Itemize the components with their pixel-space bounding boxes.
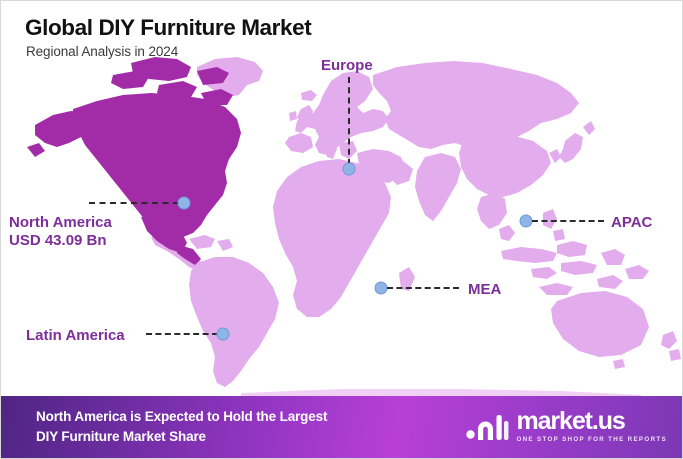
footer-callout: North America is Expected to Hold the La… — [36, 407, 327, 446]
region-value-north-america: USD 43.09 Bn — [9, 232, 112, 250]
region-label-apac: APAC — [611, 214, 652, 232]
logo-tagline: ONE STOP SHOP FOR THE REPORTS — [516, 437, 667, 443]
logo-text-block: market.us ONE STOP SHOP FOR THE REPORTS — [516, 409, 667, 443]
map-marker-latin-america[interactable] — [217, 328, 230, 341]
region-label-europe: Europe — [321, 57, 373, 75]
map-marker-north-america[interactable] — [178, 197, 191, 210]
map-marker-europe[interactable] — [343, 163, 356, 176]
map-base-regions — [151, 57, 681, 387]
footer-callout-line2: DIY Furniture Market Share — [36, 427, 327, 447]
market-us-logo[interactable]: market.us ONE STOP SHOP FOR THE REPORTS — [465, 409, 667, 443]
region-name-north-america: North America — [9, 214, 112, 232]
footer-callout-line1: North America is Expected to Hold the La… — [36, 407, 327, 427]
footer-banner: North America is Expected to Hold the La… — [1, 396, 683, 458]
leader-line-europe — [348, 77, 350, 165]
bar-chart-logo-icon — [465, 410, 509, 443]
world-map-container: North America USD 43.09 Bn Europe APAC M… — [1, 1, 683, 401]
infographic-card: Global DIY Furniture Market Regional Ana… — [0, 0, 683, 459]
leader-line-apac — [532, 220, 604, 222]
region-label-latin-america: Latin America — [26, 327, 125, 345]
map-marker-apac[interactable] — [520, 215, 533, 228]
logo-wordmark: market.us — [516, 409, 667, 434]
leader-line-mea — [387, 287, 459, 289]
region-label-mea: MEA — [468, 281, 501, 299]
leader-line-latin-america — [146, 333, 218, 335]
leader-line-north-america — [89, 202, 179, 204]
map-marker-mea[interactable] — [375, 282, 388, 295]
region-label-north-america: North America USD 43.09 Bn — [9, 214, 112, 249]
